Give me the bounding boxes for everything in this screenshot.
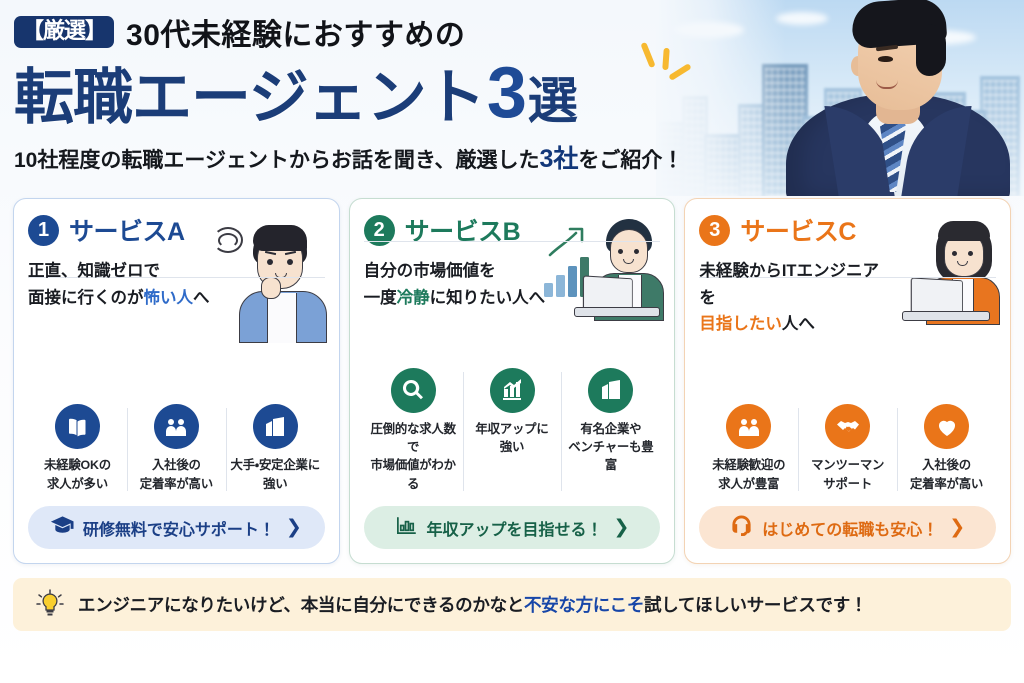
headline-small: 30代未経験におすすめの: [126, 10, 465, 54]
card-number-badge: 1: [28, 215, 59, 246]
sub-headline: 10社程度の転職エージェントからお話を聞き、厳選した3社をご紹介！: [14, 139, 683, 175]
feature-label-line2: 定着率が高い: [140, 477, 213, 491]
lead-line-1: 未経験からITエンジニアを: [699, 262, 879, 307]
main-title: 転職エージェント: [14, 66, 485, 129]
lead-highlight: 冷静: [397, 289, 430, 307]
lead-line-2-before: 一度: [364, 289, 397, 307]
sub-headline-highlight: 3社: [539, 145, 578, 173]
feature-label-line1: 入社後の: [152, 458, 201, 472]
feature-label-line2: 定着率が高い: [910, 477, 983, 491]
building-icon: [588, 368, 633, 413]
lead-line-2-before: 面接に行くのが: [28, 289, 144, 307]
feature-label-line2: 市場価値がわかる: [370, 458, 455, 490]
headset-icon: [730, 514, 753, 542]
chevron-right-icon: ❯: [286, 516, 302, 539]
feature-label-line2: ベンチャーも豊富: [568, 440, 653, 472]
feature-label: 未経験OKの 求人が多い: [44, 456, 111, 493]
service-card-b[interactable]: 2 サービスB 自分の市場価値を 一度冷静に知りたい人へ: [349, 198, 676, 564]
feature-label: 有名企業や ベンチャーも豊富: [563, 420, 658, 475]
people-icon: [154, 404, 199, 449]
feature-label-line2: 強い: [263, 477, 287, 491]
sub-headline-before: 10社程度の転職エージェントからお話を聞き、厳選した: [14, 149, 539, 172]
feature-label-line2: 求人が豊富: [718, 477, 779, 491]
feature-item: 未経験OKの 求人が多い: [28, 404, 127, 493]
banner-text-highlight: 不安な方にこそ: [524, 595, 644, 615]
chevron-right-icon: ❯: [949, 516, 965, 539]
features-row: 圧倒的な求人数で 市場価値がわかる 年収アップに 強い 有名企業や: [364, 368, 661, 493]
chevron-right-icon: ❯: [614, 516, 630, 539]
service-name: サービスC: [740, 212, 856, 248]
main-title-row: 転職エージェント 3 選: [14, 58, 683, 129]
cta-label: 研修無料で安心サポート！: [83, 516, 275, 540]
features-row: 未経験歓迎の 求人が豊富 マンツーマン サポート 入社後の: [699, 404, 996, 493]
feature-label: 入社後の 定着率が高い: [140, 456, 213, 493]
cta-label: はじめての転職も安心！: [762, 516, 938, 540]
chart-box-icon: [395, 514, 418, 542]
feature-label-line1: 未経験歓迎の: [712, 458, 785, 472]
bar-chart-up-icon: [490, 368, 535, 413]
feature-label: 未経験歓迎の 求人が豊富: [712, 456, 785, 493]
service-name: サービスB: [405, 212, 521, 248]
feature-item: 未経験歓迎の 求人が豊富: [699, 404, 798, 493]
features-row: 未経験OKの 求人が多い 入社後の 定着率が高い 大手・安定企業に: [28, 404, 325, 493]
cta-button-b[interactable]: 年収アップを目指せる！ ❯: [364, 506, 661, 549]
feature-item: 有名企業や ベンチャーも豊富: [561, 368, 660, 493]
feature-item: 入社後の 定着率が高い: [897, 404, 996, 493]
service-card-c[interactable]: 3 サービスC 未経験からITエンジニアを 目指したい人へ: [684, 198, 1011, 564]
service-name: サービスA: [69, 212, 185, 248]
lead-line-2-after: に知りたい人へ: [430, 289, 546, 307]
feature-label: マンツーマン サポート: [811, 456, 884, 493]
handshake-icon: [825, 404, 870, 449]
eye: [878, 56, 893, 62]
lead-line-1: 自分の市場価値を: [364, 262, 496, 280]
feature-label-line1: 大手・安定企業に: [231, 458, 320, 472]
banner-text-before: エンジニアになりたいけど、本当に自分にできるのかなと: [78, 595, 524, 615]
feature-item: マンツーマン サポート: [798, 404, 897, 493]
main-title-suffix: 選: [528, 73, 578, 129]
sparkle-icon: [633, 42, 691, 94]
feature-item: 圧倒的な求人数で 市場価値がわかる: [364, 368, 463, 493]
feature-label: 年収アップに 強い: [475, 420, 548, 457]
feature-label-line1: 圧倒的な求人数で: [370, 422, 455, 454]
card-divider: [364, 241, 661, 242]
cta-label: 年収アップを目指せる！: [427, 516, 603, 540]
feature-label: 大手・安定企業に 強い: [231, 456, 320, 493]
feature-label-line1: 入社後の: [922, 458, 971, 472]
feature-label-line1: マンツーマン: [811, 458, 884, 472]
feature-label: 圧倒的な求人数で 市場価値がわかる: [366, 420, 461, 493]
card-number-badge: 3: [699, 215, 730, 246]
genzen-badge: 【厳選】: [14, 16, 114, 48]
banner-text: エンジニアになりたいけど、本当に自分にできるのかなと不安な方にこそ試してほしいサ…: [78, 592, 867, 617]
service-card-a[interactable]: 1 サービスA 正直、知識ゼロで 面接に行くのが怖い人へ: [13, 198, 340, 564]
cta-button-a[interactable]: 研修無料で安心サポート！ ❯: [28, 506, 325, 549]
feature-label-line1: 有名企業や: [580, 422, 641, 436]
headline-row: 【厳選】 30代未経験におすすめの: [14, 10, 683, 54]
card-lead-text: 自分の市場価値を 一度冷静に知りたい人へ: [364, 258, 579, 311]
feature-label-line2: 強い: [500, 440, 524, 454]
hero-text-block: 【厳選】 30代未経験におすすめの 転職エージェント 3 選 10社程度の転職エ…: [14, 10, 683, 175]
feature-label: 入社後の 定着率が高い: [910, 456, 983, 493]
feature-item: 年収アップに 強い: [463, 368, 562, 493]
main-title-number: 3: [487, 58, 527, 129]
heart-icon: [924, 404, 969, 449]
service-cards-row: 1 サービスA 正直、知識ゼロで 面接に行くのが怖い人へ: [0, 198, 1024, 564]
feature-label-line1: 年収アップに: [475, 422, 548, 436]
bottom-banner: エンジニアになりたいけど、本当に自分にできるのかなと不安な方にこそ試してほしいサ…: [13, 578, 1011, 631]
feature-item: 大手・安定企業に 強い: [226, 404, 325, 493]
businessman-figure: [776, 0, 1024, 196]
feature-label-line2: サポート: [823, 477, 872, 491]
lead-line-1: 正直、知識ゼロで: [28, 262, 160, 280]
search-icon: [391, 368, 436, 413]
sub-headline-after: をご紹介！: [578, 149, 683, 172]
lead-highlight: 目指したい: [699, 315, 782, 333]
book-icon: [55, 404, 100, 449]
feature-item: 入社後の 定着率が高い: [127, 404, 226, 493]
card-lead-text: 正直、知識ゼロで 面接に行くのが怖い人へ: [28, 258, 243, 311]
graduation-cap-icon: [51, 514, 74, 542]
people-icon: [726, 404, 771, 449]
hair-side: [916, 24, 946, 76]
lead-line-2-after: へ: [193, 289, 210, 307]
card-lead-text: 未経験からITエンジニアを 目指したい人へ: [699, 258, 889, 338]
feature-label-line2: 求人が多い: [47, 477, 108, 491]
hero-section: 【厳選】 30代未経験におすすめの 転職エージェント 3 選 10社程度の転職エ…: [0, 0, 1024, 196]
feature-label-line1: 未経験OKの: [44, 458, 111, 472]
lightbulb-icon: [35, 589, 65, 621]
hero-photo: [656, 0, 1024, 196]
cta-button-c[interactable]: はじめての転職も安心！ ❯: [699, 506, 996, 549]
building-icon: [253, 404, 298, 449]
lead-line-2-after: 人へ: [782, 315, 815, 333]
lead-highlight: 怖い人: [144, 289, 194, 307]
banner-text-after: 試してほしいサービスです！: [644, 595, 867, 615]
